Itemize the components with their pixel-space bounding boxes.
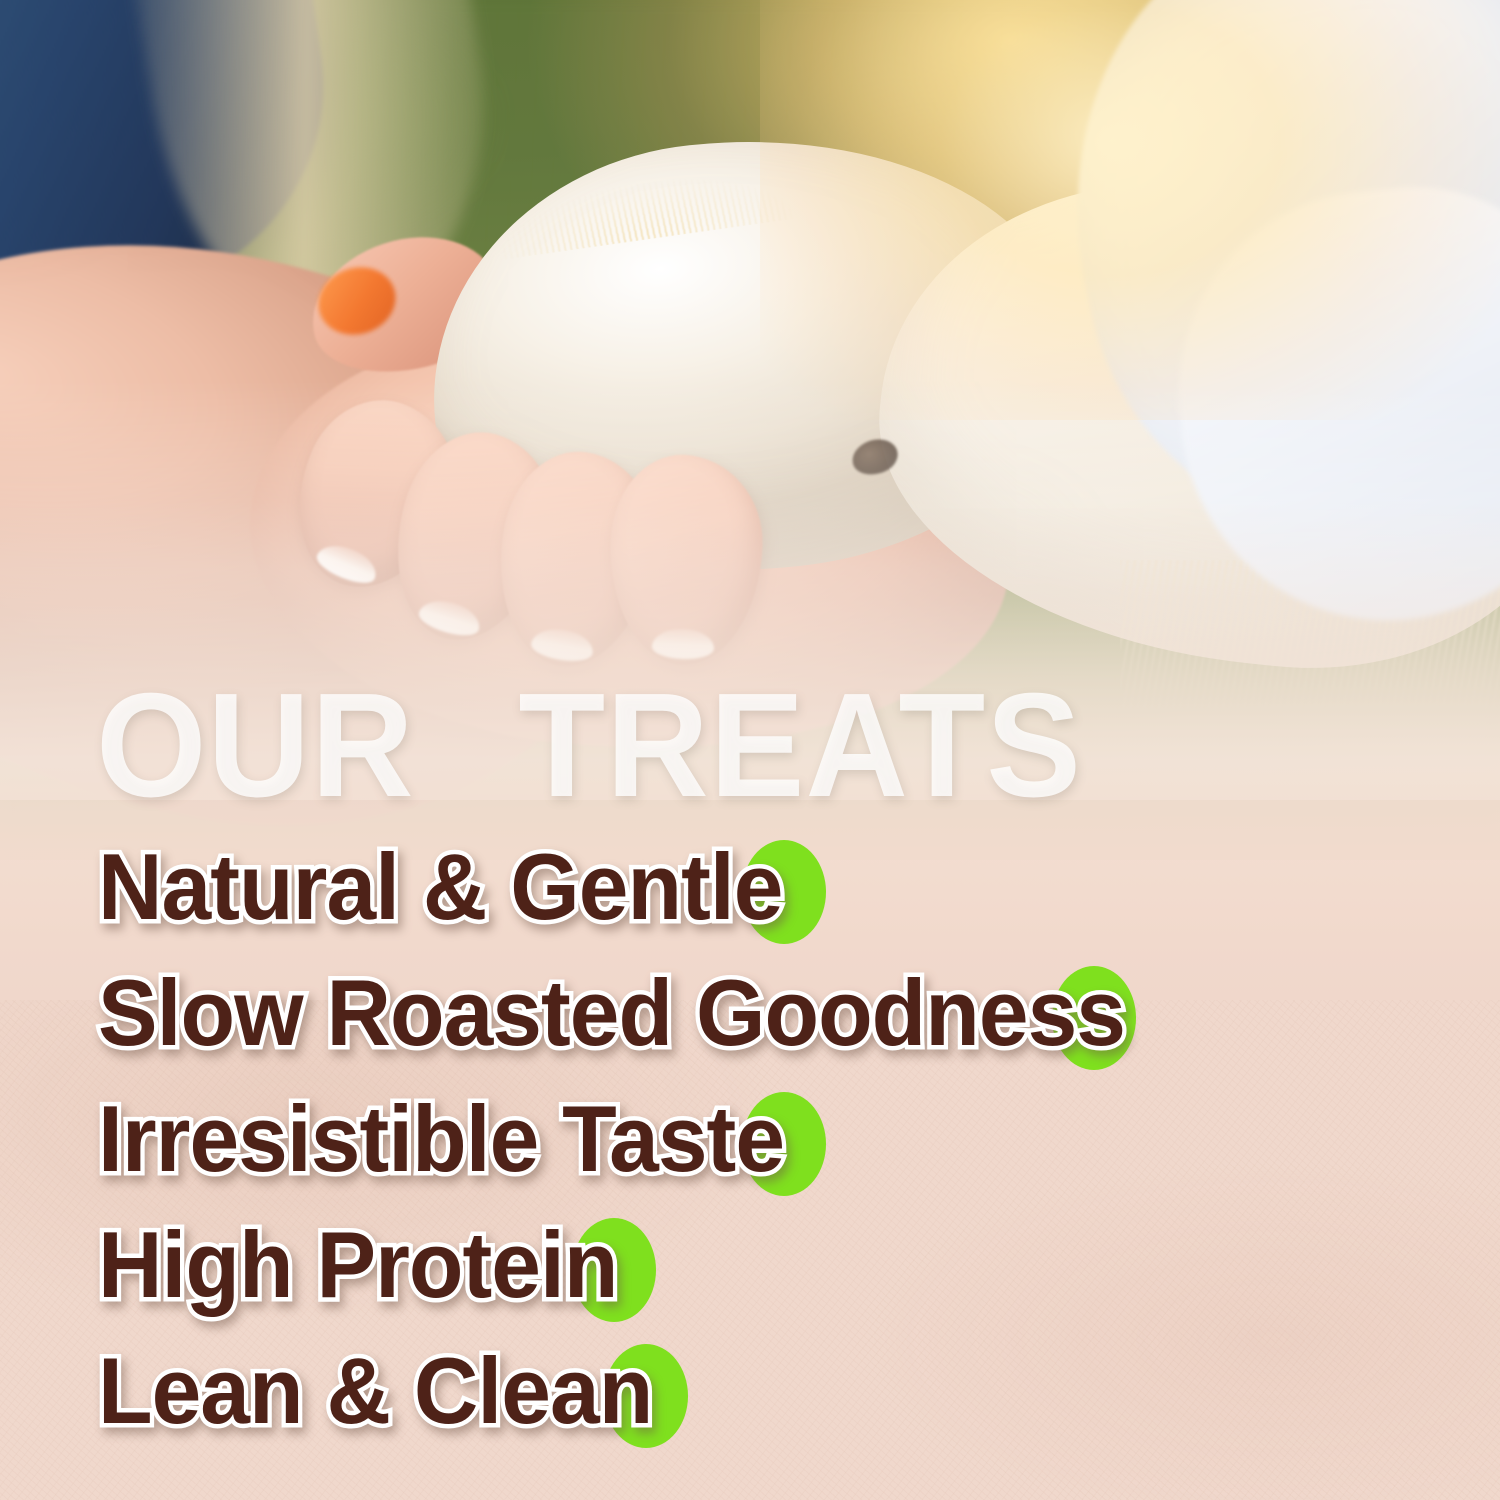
benefit-item-lean-and-clean: Lean & Clean xyxy=(0,1332,1500,1458)
fingernail-4 xyxy=(652,628,715,660)
benefit-label: High Protein xyxy=(98,1206,617,1324)
page-title: OUR TREATS xyxy=(96,672,1373,820)
benefit-label: Lean & Clean xyxy=(98,1332,652,1450)
benefit-label: Slow Roasted Goodness xyxy=(98,954,1125,1072)
benefit-item-high-protein: High Protein xyxy=(0,1206,1500,1332)
benefit-item-slow-roasted-goodness: Slow Roasted Goodness xyxy=(0,954,1500,1080)
benefit-label: Irresistible Taste xyxy=(98,1080,784,1198)
benefit-item-natural-and-gentle: Natural & Gentle xyxy=(0,828,1500,954)
benefit-item-irresistible-taste: Irresistible Taste xyxy=(0,1080,1500,1206)
benefit-label: Natural & Gentle xyxy=(98,828,782,946)
product-feature-graphic: OUR TREATS Natural & Gentle Slow Roasted… xyxy=(0,0,1500,1500)
benefits-list: Natural & Gentle Slow Roasted Goodness I… xyxy=(0,828,1500,1458)
